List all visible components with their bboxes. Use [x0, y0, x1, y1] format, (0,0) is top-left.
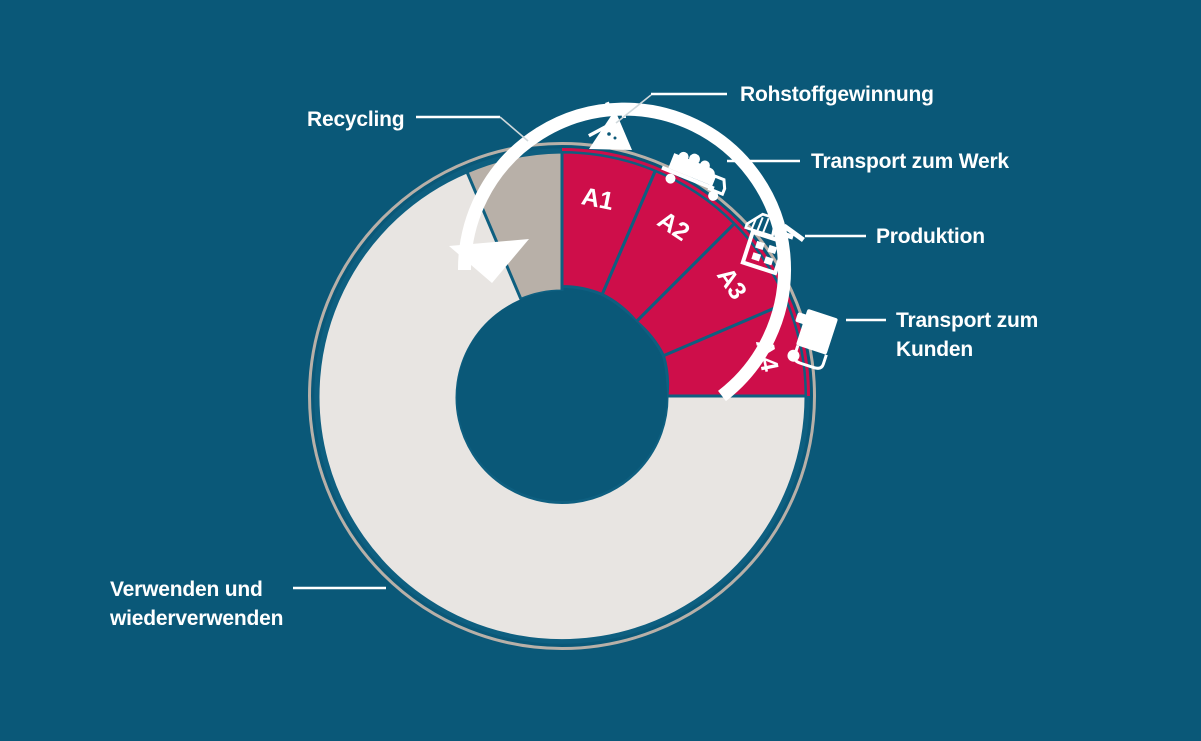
callout-label-rohstoffgewinnung: Rohstoffgewinnung	[740, 83, 934, 106]
callout-label-verwenden-line2: wiederverwenden	[109, 607, 283, 630]
callout-label-recycling: Recycling	[307, 108, 404, 131]
callout-label-verwenden-line1: Verwenden und	[110, 578, 263, 601]
callout-label-transport-zum-werk: Transport zum Werk	[811, 150, 1009, 173]
callout-label-transport-zum-kunden-line2: Kunden	[896, 338, 973, 361]
lifecycle-donut-chart: A1 A2 A3 A4	[0, 0, 1201, 741]
infographic-canvas: A1 A2 A3 A4	[0, 0, 1201, 741]
callout-label-produktion: Produktion	[876, 225, 985, 248]
donut-center-hole	[457, 291, 667, 501]
callout-label-transport-zum-kunden-line1: Transport zum	[896, 309, 1038, 332]
